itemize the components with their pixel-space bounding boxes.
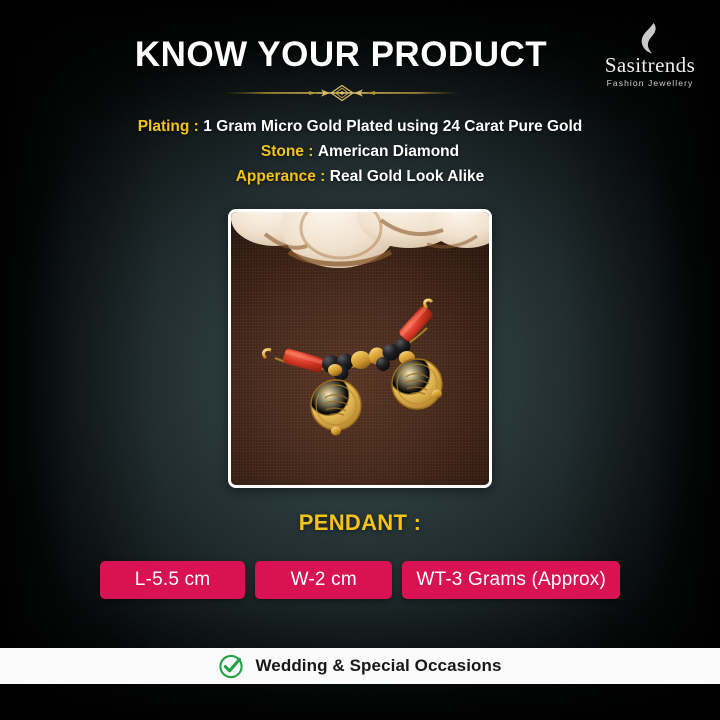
footer-text: Wedding & Special Occasions [255,656,501,676]
badge-length: L-5.5 cm [100,561,245,599]
flame-logo-icon [637,22,663,56]
brand-name: Sasitrends [594,54,706,76]
brand-tagline: Fashion Jewellery [594,77,706,89]
footer-bar: Wedding & Special Occasions [0,648,720,684]
spec-value: Real Gold Look Alike [330,168,484,185]
product-photo [231,212,489,485]
spec-label: Apperance : [236,168,326,185]
spec-row-plating: Plating : 1 Gram Micro Gold Plated using… [0,114,720,139]
product-specs: Plating : 1 Gram Micro Gold Plated using… [0,114,720,189]
spec-value: American Diamond [318,143,459,160]
spec-row-stone: Stone : American Diamond [0,139,720,164]
badge-weight: WT-3 Grams (Approx) [402,561,620,599]
pendant-heading: PENDANT : [0,510,720,536]
pendant-coin-left [311,364,361,436]
check-circle-icon [218,653,244,679]
spec-label: Plating : [138,118,199,135]
brand-logo: Sasitrends Fashion Jewellery [594,22,706,98]
jewellery-strand [264,300,442,436]
ornamental-divider-icon [217,82,467,104]
spec-label: Stone : [261,143,314,160]
divider-svg [217,82,467,104]
spec-value: 1 Gram Micro Gold Plated using 24 Carat … [203,118,582,135]
badge-width: W-2 cm [255,561,392,599]
know-your-product-poster: KNOW YOUR PRODUCT [0,0,720,720]
product-photo-frame [228,209,492,488]
measurement-badges: L-5.5 cm W-2 cm WT-3 Grams (Approx) [100,561,620,599]
pendant-coin-right [392,351,442,409]
shell-cluster [231,212,489,268]
spec-row-apperance: Apperance : Real Gold Look Alike [0,164,720,189]
jewellery-illustration [231,212,489,485]
